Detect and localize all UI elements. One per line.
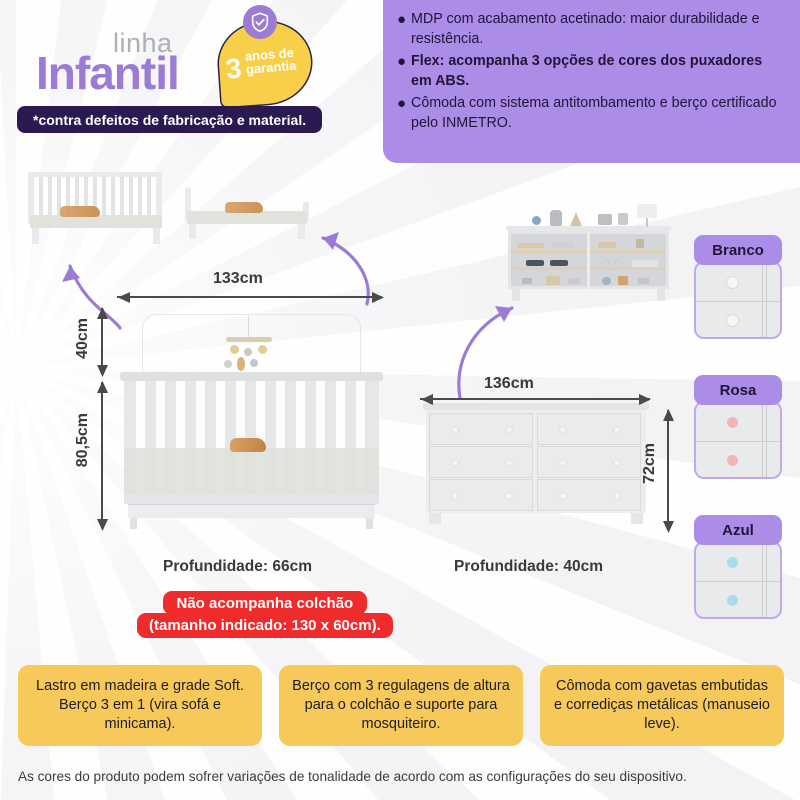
feature-box: Berço com 3 regulagens de altura para o … xyxy=(279,665,523,746)
drawer-knob-swatch xyxy=(727,557,738,568)
bullet-dot-icon: ● xyxy=(397,52,411,91)
color-option-label: Rosa xyxy=(694,375,782,405)
crib-base-drawer xyxy=(128,504,375,518)
crib-depth-label: Profundidade: 66cm xyxy=(163,558,312,576)
dresser-main-image xyxy=(423,403,649,525)
crib-upper-height-label: 40cm xyxy=(74,318,92,359)
color-option-rosa[interactable]: Rosa xyxy=(694,375,782,479)
crib-mobile-string xyxy=(248,316,249,338)
bullet-dot-icon: ● xyxy=(397,94,411,133)
drawer-knob-swatch xyxy=(727,315,738,326)
drawer-knob-swatch xyxy=(727,455,738,466)
feature-bullet: ● Flex: acompanha 3 opções de cores dos … xyxy=(397,52,786,91)
dresser-body xyxy=(426,410,646,513)
drawer-knob-swatch xyxy=(727,417,738,428)
dresser-drawer xyxy=(537,446,641,478)
color-option-preview xyxy=(694,541,782,619)
infographic-page: linha Infantil 3 anos de garantia *contr… xyxy=(0,0,800,800)
color-option-label: Branco xyxy=(694,235,782,265)
crib-lower-height-label: 80,5cm xyxy=(74,413,92,467)
feature-box: Lastro em madeira e grade Soft. Berço 3 … xyxy=(18,665,262,746)
dresser-drawer xyxy=(429,446,533,478)
shield-check-icon xyxy=(243,5,277,39)
crib-mobile-bar xyxy=(226,337,272,342)
dresser-drawer xyxy=(537,479,641,511)
dresser-drawer xyxy=(429,479,533,511)
warranty-years-number: 3 xyxy=(225,54,243,83)
color-option-preview xyxy=(694,261,782,339)
feature-bullet: ● MDP com acabamento acetinado: maior du… xyxy=(397,10,786,49)
mattress-note-line1: Não acompanha colchão xyxy=(163,591,368,615)
mattress-note-line2: (tamanho indicado: 130 x 60cm). xyxy=(137,613,393,638)
dresser-depth-label: Profundidade: 40cm xyxy=(454,558,603,576)
mattress-not-included-note: Não acompanha colchão (tamanho indicado:… xyxy=(137,591,393,638)
crib-width-label: 133cm xyxy=(213,270,263,288)
feature-bullet: ● Cômoda com sistema antitombamento e be… xyxy=(397,94,786,133)
page-title: Infantil xyxy=(36,46,179,100)
crib-bottom-rail xyxy=(124,494,379,504)
dresser-drawer xyxy=(429,413,533,445)
dresser-open-shelves-image xyxy=(506,212,671,302)
color-option-azul[interactable]: Azul xyxy=(694,515,782,619)
dresser-height-arrowheads xyxy=(660,405,678,537)
crib-width-arrowheads xyxy=(108,288,394,308)
feature-box: Cômoda com gavetas embutidas e corrediça… xyxy=(540,665,784,746)
color-option-preview xyxy=(694,401,782,479)
drawer-knob-swatch xyxy=(727,277,738,288)
dresser-height-label: 72cm xyxy=(641,443,659,484)
crib-mattress xyxy=(124,448,379,494)
crib-lower-height-arrowheads xyxy=(94,377,112,535)
drawer-knob-swatch xyxy=(727,595,738,606)
feature-boxes-row: Lastro em madeira e grade Soft. Berço 3 … xyxy=(18,665,784,746)
warranty-disclaimer-pill: *contra defeitos de fabricação e materia… xyxy=(17,106,322,133)
crib-upper-height-arrowheads xyxy=(94,303,112,381)
feature-bullet-text: Cômoda com sistema antitombamento e berç… xyxy=(411,94,786,133)
color-option-branco[interactable]: Branco xyxy=(694,235,782,339)
dresser-width-arrowheads xyxy=(411,390,661,410)
crib-main-image xyxy=(120,372,383,527)
feature-bullet-text: MDP com acabamento acetinado: maior dura… xyxy=(411,10,786,49)
color-variation-disclaimer: As cores do produto podem sofrer variaçõ… xyxy=(18,769,788,784)
crib-minibed-conversion-image xyxy=(185,188,315,254)
crib-top-rail xyxy=(120,372,383,381)
dresser-drawer xyxy=(537,413,641,445)
feature-bullet-text: Flex: acompanha 3 opções de cores dos pu… xyxy=(411,52,786,91)
color-option-label: Azul xyxy=(694,515,782,545)
bullet-dot-icon: ● xyxy=(397,10,411,49)
features-panel: ● MDP com acabamento acetinado: maior du… xyxy=(383,0,800,163)
crib-sofa-conversion-image xyxy=(28,168,168,253)
